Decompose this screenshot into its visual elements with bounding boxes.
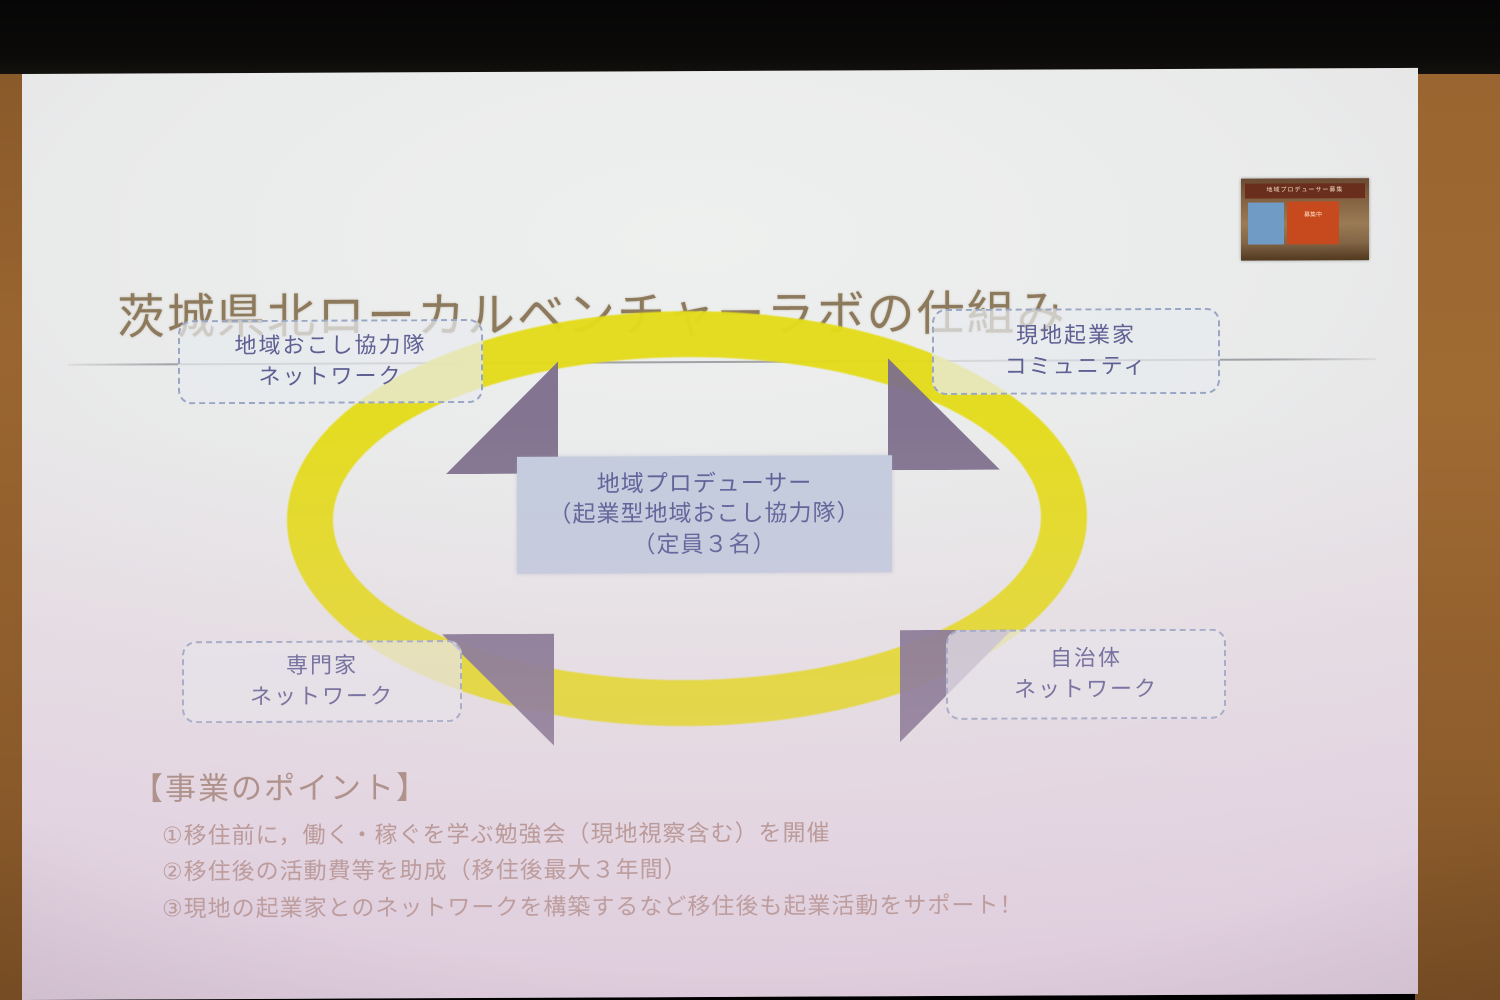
points-heading: 【事業のポイント】 [132, 758, 1332, 808]
node-tr-line1: 現地起業家 [1016, 320, 1136, 352]
node-bl-line2: ネットワーク [250, 681, 394, 713]
node-box-chiiki-okoshi-network: 地域おこし協力隊 ネットワーク [178, 319, 483, 404]
points-list: ①移住前に，働く・稼ぐを学ぶ勉強会（現地視察含む）を開催 ②移住後の活動費等を助… [132, 813, 1332, 927]
list-item: ①移住前に，働く・稼ぐを学ぶ勉強会（現地視察含む）を開催 [162, 813, 1332, 854]
list-item: ②移住後の活動費等を助成（移住後最大３年間） [162, 850, 1332, 891]
ceiling-dark-band [0, 0, 1500, 76]
center-node-local-producer: 地域プロデューサー （起業型地域おこし協力隊） （定員３名） [517, 455, 892, 574]
node-box-local-entrepreneur-community: 現地起業家 コミュニティ [932, 308, 1220, 395]
node-box-municipality-network: 自治体 ネットワーク [946, 629, 1226, 720]
slide-surface: 茨城県北ローカルベンチャーラボの仕組み 地域プロデューサー募集 募集中 [22, 68, 1418, 1000]
node-tr-line2: コミュニティ [1005, 351, 1148, 383]
wall-right [1415, 74, 1500, 1000]
node-tl-line2: ネットワーク [258, 361, 402, 393]
node-box-expert-network: 専門家 ネットワーク [182, 640, 462, 723]
node-tl-line1: 地域おこし協力隊 [234, 330, 426, 362]
program-points-block: 【事業のポイント】 ①移住前に，働く・稼ぐを学ぶ勉強会（現地視察含む）を開催 ②… [132, 758, 1332, 927]
center-node-line2: （起業型地域おこし協力隊） [549, 499, 861, 531]
node-bl-line1: 専門家 [286, 650, 358, 682]
list-item: ③現地の起業家とのネットワークを構築するなど移住後も起業活動をサポート！ [162, 886, 1332, 927]
projected-slide-photo: 茨城県北ローカルベンチャーラボの仕組み 地域プロデューサー募集 募集中 [0, 0, 1500, 1000]
center-node-line1: 地域プロデューサー [597, 468, 813, 500]
center-node-line3: （定員３名） [633, 529, 777, 560]
node-br-line2: ネットワーク [1014, 674, 1158, 706]
node-br-line1: 自治体 [1050, 643, 1122, 675]
